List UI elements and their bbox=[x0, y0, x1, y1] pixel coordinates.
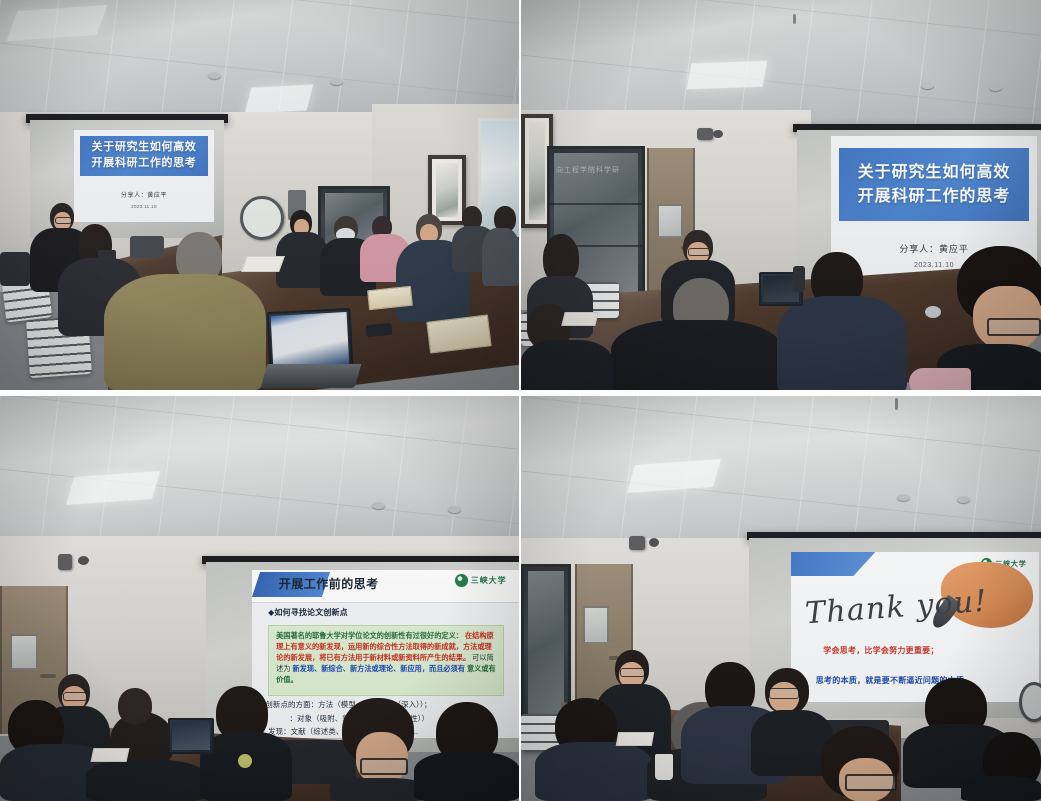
quote-line-1: 美国著名的耶鲁大学对学位论文的创新性有过很好的定义： bbox=[276, 631, 463, 640]
torso bbox=[330, 778, 426, 801]
photo-bottom-right: 三峡大学 Thank you! 学会思考，比学会努力更重要； 思考的本质，就是要… bbox=[521, 396, 1041, 801]
torso bbox=[961, 776, 1041, 801]
ceiling-grid bbox=[0, 396, 519, 544]
sleeve bbox=[909, 368, 971, 390]
slide-title-line-2: 开展科研工作的思考 bbox=[858, 185, 1011, 208]
framed-artwork bbox=[436, 163, 458, 217]
paper-sheet bbox=[241, 256, 285, 272]
security-camera-icon bbox=[649, 538, 659, 547]
paper-sheet bbox=[616, 732, 654, 746]
smoke-detector-icon bbox=[208, 72, 221, 79]
slide-title-line-1: 关于研究生如何高效 bbox=[92, 140, 197, 156]
smoke-detector-icon bbox=[989, 84, 1002, 91]
glasses-icon bbox=[55, 217, 72, 224]
smoke-detector-icon bbox=[957, 496, 970, 503]
cabinet-shelf bbox=[550, 203, 642, 205]
university-logo: 三峡大学 bbox=[455, 574, 507, 587]
university-emblem-icon bbox=[455, 574, 468, 587]
slide-header: 开展工作前的思考 三峡大学 bbox=[252, 570, 519, 603]
microphone bbox=[925, 306, 941, 318]
thank-you-script: Thank you! bbox=[804, 584, 989, 632]
chair bbox=[0, 252, 30, 286]
photo-collage: 关于研究生如何高效 开展科研工作的思考 分享人：黄应平 2023.11.10 bbox=[0, 0, 1041, 801]
door-window bbox=[583, 606, 609, 644]
ceiling-light-panel bbox=[245, 84, 313, 113]
torso bbox=[104, 274, 266, 390]
smoke-detector-icon bbox=[897, 494, 910, 501]
glasses-icon bbox=[987, 318, 1041, 336]
wall-speaker-round bbox=[1019, 682, 1041, 722]
ceiling bbox=[0, 0, 519, 118]
door-window bbox=[10, 634, 38, 670]
head bbox=[118, 688, 152, 724]
laptop-screen bbox=[271, 312, 350, 370]
glasses-icon bbox=[360, 758, 408, 775]
glasses-icon bbox=[620, 668, 645, 677]
torso bbox=[535, 742, 653, 801]
photo-top-left: 关于研究生如何高效 开展科研工作的思考 分享人：黄应平 2023.11.10 bbox=[0, 0, 519, 390]
cabinet-label: 向工程学院科学研 bbox=[556, 165, 636, 175]
laptop-screen bbox=[172, 722, 210, 750]
wall-speaker bbox=[697, 128, 713, 140]
takeaway-line-red: 学会思考，比学会努力更重要； bbox=[823, 645, 938, 656]
glasses-icon bbox=[688, 248, 710, 256]
ceiling bbox=[0, 396, 519, 544]
slide-bullet: ◆如何寻找论文创新点 bbox=[268, 607, 348, 618]
smoke-detector-icon bbox=[921, 82, 934, 89]
wall-speaker bbox=[58, 554, 72, 570]
laptop-keyboard bbox=[261, 364, 362, 388]
slide-date: 2023.11.10 bbox=[74, 204, 214, 209]
torso bbox=[86, 760, 206, 801]
smoke-detector-icon bbox=[330, 78, 343, 85]
paper-sheet bbox=[561, 312, 598, 326]
torso bbox=[521, 340, 613, 390]
ceiling-light-panel bbox=[687, 61, 768, 90]
torso bbox=[611, 320, 783, 390]
slide-outline-1: 创新点的方面：方法（模型、分析方法（深入））； bbox=[265, 699, 431, 710]
slide-title-line-2: 开展科研工作的思考 bbox=[92, 156, 197, 172]
framed-artwork bbox=[529, 122, 545, 220]
ceiling-hook-icon bbox=[793, 14, 796, 24]
ceiling-hook-icon bbox=[895, 398, 898, 410]
slide-title-band: 关于研究生如何高效 开展科研工作的思考 bbox=[80, 136, 209, 176]
quote-line-4: 新发现、新综合、新方法或理论、新应用，而且必须有 bbox=[292, 664, 465, 673]
slide-header-title: 开展工作前的思考 bbox=[279, 575, 379, 592]
laptop bbox=[168, 718, 214, 754]
glasses-icon bbox=[845, 774, 897, 791]
slide-title: 关于研究生如何高效 开展科研工作的思考 分享人：黄应平 2023.11.10 bbox=[74, 130, 214, 222]
slide-quote-box: 美国著名的耶鲁大学对学位论文的创新性有过很好的定义： 在结构原理上有意义的新发现… bbox=[268, 625, 504, 696]
wall-speaker bbox=[629, 536, 645, 550]
ceiling bbox=[521, 396, 1041, 546]
slide-title-line-1: 关于研究生如何高效 bbox=[858, 161, 1011, 184]
wall-speaker bbox=[240, 196, 284, 240]
security-camera-icon bbox=[713, 130, 723, 138]
glasses-icon bbox=[63, 692, 87, 701]
photo-top-right: 向工程学院科学研 关于研究生如何高效 开展科研工作的思考 分享人：黄应平 202… bbox=[521, 0, 1041, 390]
university-name: 三峡大学 bbox=[471, 575, 507, 586]
smoke-detector-icon bbox=[448, 506, 461, 513]
slide-accent-band bbox=[791, 552, 875, 576]
torso bbox=[777, 296, 907, 390]
smoke-detector-icon bbox=[372, 502, 385, 509]
hair-accessory bbox=[238, 754, 252, 768]
door-window bbox=[657, 204, 683, 238]
microphone bbox=[130, 236, 164, 258]
microphone bbox=[793, 266, 805, 292]
security-camera-icon bbox=[78, 556, 89, 565]
slide-presenter: 分享人：黄应平 bbox=[74, 190, 214, 199]
slide-title-band: 关于研究生如何高效 开展科研工作的思考 bbox=[839, 148, 1029, 221]
microphone bbox=[98, 250, 116, 260]
photo-bottom-left: 开展工作前的思考 三峡大学 ◆如何寻找论文创新点 美国著名的耶鲁大学对学位论文的… bbox=[0, 396, 519, 801]
torso bbox=[482, 228, 519, 286]
glasses-icon bbox=[769, 688, 799, 699]
paper-cup bbox=[655, 754, 673, 780]
torso bbox=[414, 752, 519, 801]
paper-sheet bbox=[91, 748, 130, 762]
door-handle bbox=[40, 674, 56, 678]
ceiling-grid bbox=[521, 396, 1041, 546]
slide-thank-you: 三峡大学 Thank you! 学会思考，比学会努力更重要； 思考的本质，就是要… bbox=[791, 552, 1039, 702]
